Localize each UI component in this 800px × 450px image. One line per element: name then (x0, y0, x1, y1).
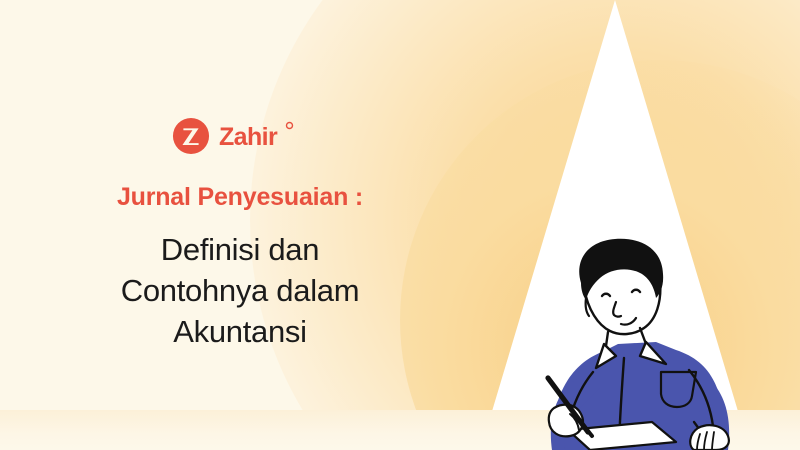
text-column: Zahir Jurnal Penyesuaian : Definisi dan … (60, 112, 420, 353)
right-hand-resting (690, 425, 729, 450)
zahir-logo-icon (172, 117, 210, 155)
title-line-2: Contohnya dalam (60, 271, 420, 312)
subtitle: Jurnal Penyesuaian : (60, 182, 420, 212)
title-line-3: Akuntansi (60, 312, 420, 353)
page-title: Definisi dan Contohnya dalam Akuntansi (60, 230, 420, 353)
cover-banner: Zahir Jurnal Penyesuaian : Definisi dan … (0, 0, 800, 450)
svg-text:Zahir: Zahir (219, 123, 278, 151)
zahir-wordmark: Zahir (219, 119, 309, 153)
title-line-1: Definisi dan (60, 230, 420, 271)
man-writing-at-desk-illustration (480, 236, 800, 450)
zahir-logo[interactable]: Zahir (60, 112, 420, 160)
